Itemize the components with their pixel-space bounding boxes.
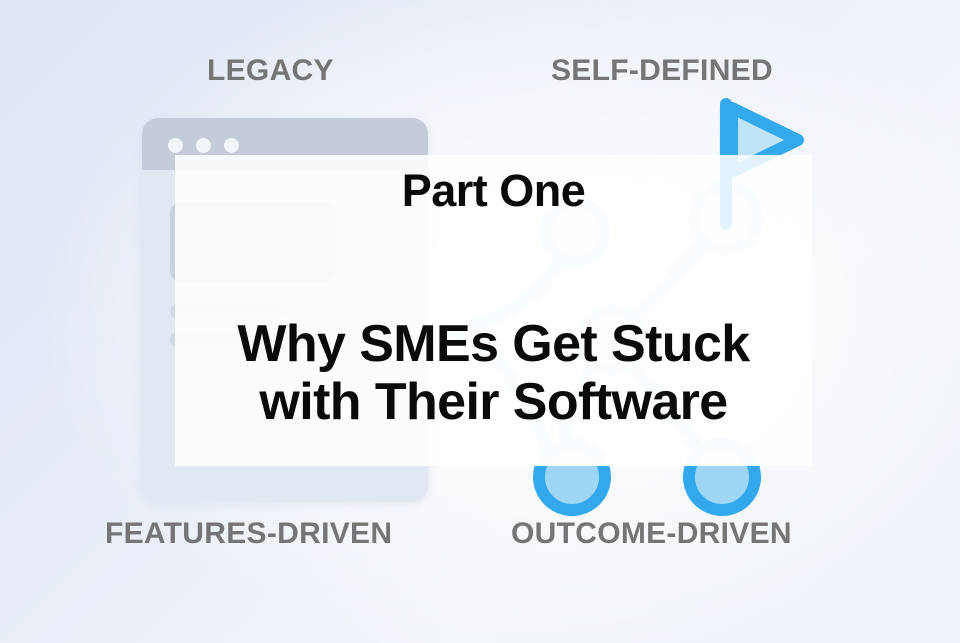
node-bottom-left-accent — [539, 444, 605, 510]
window-titlebar — [142, 118, 428, 170]
window-dot-maximize-icon — [224, 138, 239, 153]
node-bottom-left — [539, 444, 605, 510]
headline-line-1: Why SMEs Get Stuck — [175, 315, 812, 373]
quadrant-label-self-defined: SELF-DEFINED — [551, 54, 773, 88]
window-dot-minimize-icon — [196, 138, 211, 153]
edge-topright-to-center — [632, 242, 706, 318]
quadrant-label-legacy: LEGACY — [207, 54, 334, 88]
page-title: Why SMEs Get Stuck with Their Software — [175, 315, 812, 431]
slide-canvas: LEGACY SELF-DEFINED FEATURES-DRIVEN OUTC… — [0, 0, 960, 643]
network-nodes-bottom — [539, 444, 755, 510]
quadrant-label-features-driven: FEATURES-DRIVEN — [105, 517, 392, 551]
network-nodes-bottom-accent — [539, 444, 755, 510]
flag-banner — [732, 108, 798, 172]
part-label: Part One — [175, 165, 812, 217]
headline-line-2: with Their Software — [175, 373, 812, 431]
node-bottom-right-accent — [689, 444, 755, 510]
window-dot-close-icon — [168, 138, 183, 153]
quadrant-label-outcome-driven: OUTCOME-DRIVEN — [511, 517, 792, 551]
node-bottom-right — [689, 444, 755, 510]
